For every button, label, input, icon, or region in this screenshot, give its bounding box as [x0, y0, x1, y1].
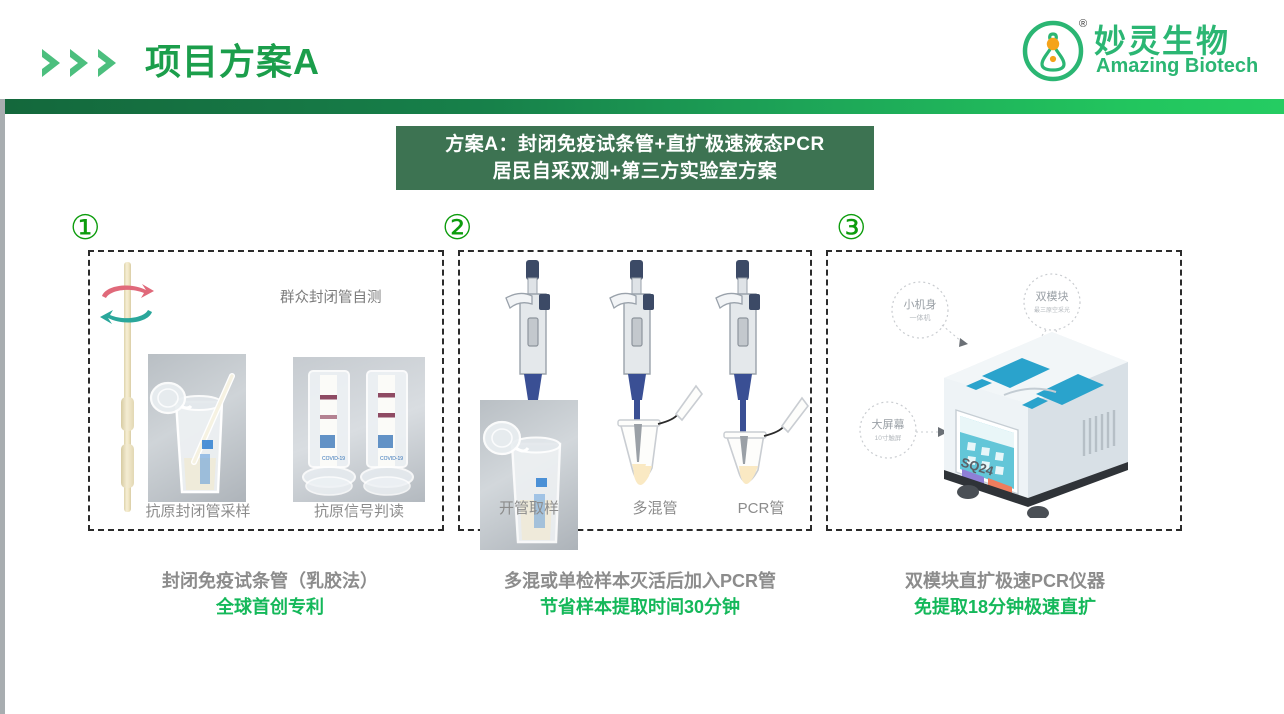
rotation-arrows-icon	[96, 276, 160, 332]
dual-module-pcr-instrument-photo: 小机身 一体机 双模块 最三原空采光 大屏幕 10寸触屏	[856, 270, 1156, 518]
triple-chevron-right-icon	[40, 47, 136, 79]
svg-text:最三原空采光: 最三原空采光	[1034, 306, 1070, 314]
step-panel-3: 小机身 一体机 双模块 最三原空采光 大屏幕 10寸触屏	[826, 250, 1182, 531]
figure-caption-2-2: 多混管	[598, 497, 712, 518]
step-number-2: ②	[442, 211, 472, 245]
step-caption-3-sub: 免提取18分钟极速直扩	[840, 594, 1170, 620]
multi-mix-tube-assembly	[602, 254, 712, 507]
svg-text:一体机: 一体机	[910, 313, 931, 322]
step-caption-3-main: 双模块直扩极速PCR仪器	[840, 568, 1170, 594]
figure-caption-1-1: 抗原封闭管采样	[138, 500, 258, 521]
figure-caption-2-1: 开管取样	[472, 497, 586, 518]
open-tube-sampling-photo	[480, 400, 578, 550]
svg-text:COVID-19: COVID-19	[380, 456, 403, 462]
slide-root: 项目方案A ® 妙灵生物 Amazing Biotech 方案A：封闭免疫试条管…	[0, 0, 1284, 714]
step-panel-2: 开管取样	[458, 250, 812, 531]
step-caption-1-sub: 全球首创专利	[60, 594, 480, 620]
step-caption-3: 双模块直扩极速PCR仪器 免提取18分钟极速直扩	[840, 568, 1170, 620]
brand-logo: ® 妙灵生物 Amazing Biotech	[1022, 16, 1258, 84]
step-number-3: ③	[836, 211, 866, 245]
figure-caption-1-2: 抗原信号判读	[299, 500, 419, 521]
flask-circle-logo-icon	[1022, 20, 1084, 82]
step-caption-1: 封闭免疫试条管（乳胶法） 全球首创专利	[60, 568, 480, 620]
scheme-banner: 方案A：封闭免疫试条管+直扩极速液态PCR 居民自采双测+第三方实验室方案	[396, 126, 874, 190]
slide-header: 项目方案A ® 妙灵生物 Amazing Biotech	[0, 0, 1284, 99]
svg-text:10寸触屏: 10寸触屏	[875, 433, 902, 442]
step-caption-2-sub: 节省样本提取时间30分钟	[440, 594, 840, 620]
step-number-1: ①	[70, 211, 100, 245]
antigen-test-strip-tubes-photo: COVID-19 COVID-19	[293, 357, 425, 502]
registered-trademark-icon: ®	[1079, 18, 1087, 30]
page-title: 项目方案A	[145, 33, 320, 85]
step-panel-1: 群众封闭管自测	[88, 250, 444, 531]
step-caption-2-main: 多混或单检样本灭活后加入PCR管	[440, 568, 840, 594]
pcr-tube-assembly	[708, 254, 818, 507]
svg-text:双模块: 双模块	[1036, 290, 1069, 303]
svg-text:小机身: 小机身	[904, 297, 937, 311]
step-caption-2: 多混或单检样本灭活后加入PCR管 节省样本提取时间30分钟	[440, 568, 840, 620]
header-divider-bar	[5, 99, 1284, 114]
figure-caption-2-3: PCR管	[704, 497, 818, 518]
svg-text:大屏幕: 大屏幕	[872, 417, 905, 431]
logo-name-en: Amazing Biotech	[1096, 55, 1258, 78]
swab-in-closed-tube-photo	[148, 354, 246, 502]
banner-line-2: 居民自采双测+第三方实验室方案	[493, 158, 778, 185]
banner-line-1: 方案A：封闭免疫试条管+直扩极速液态PCR	[445, 131, 824, 158]
step-caption-1-main: 封闭免疫试条管（乳胶法）	[60, 568, 480, 594]
panel-1-note: 群众封闭管自测	[280, 286, 382, 307]
svg-text:COVID-19: COVID-19	[322, 456, 345, 462]
